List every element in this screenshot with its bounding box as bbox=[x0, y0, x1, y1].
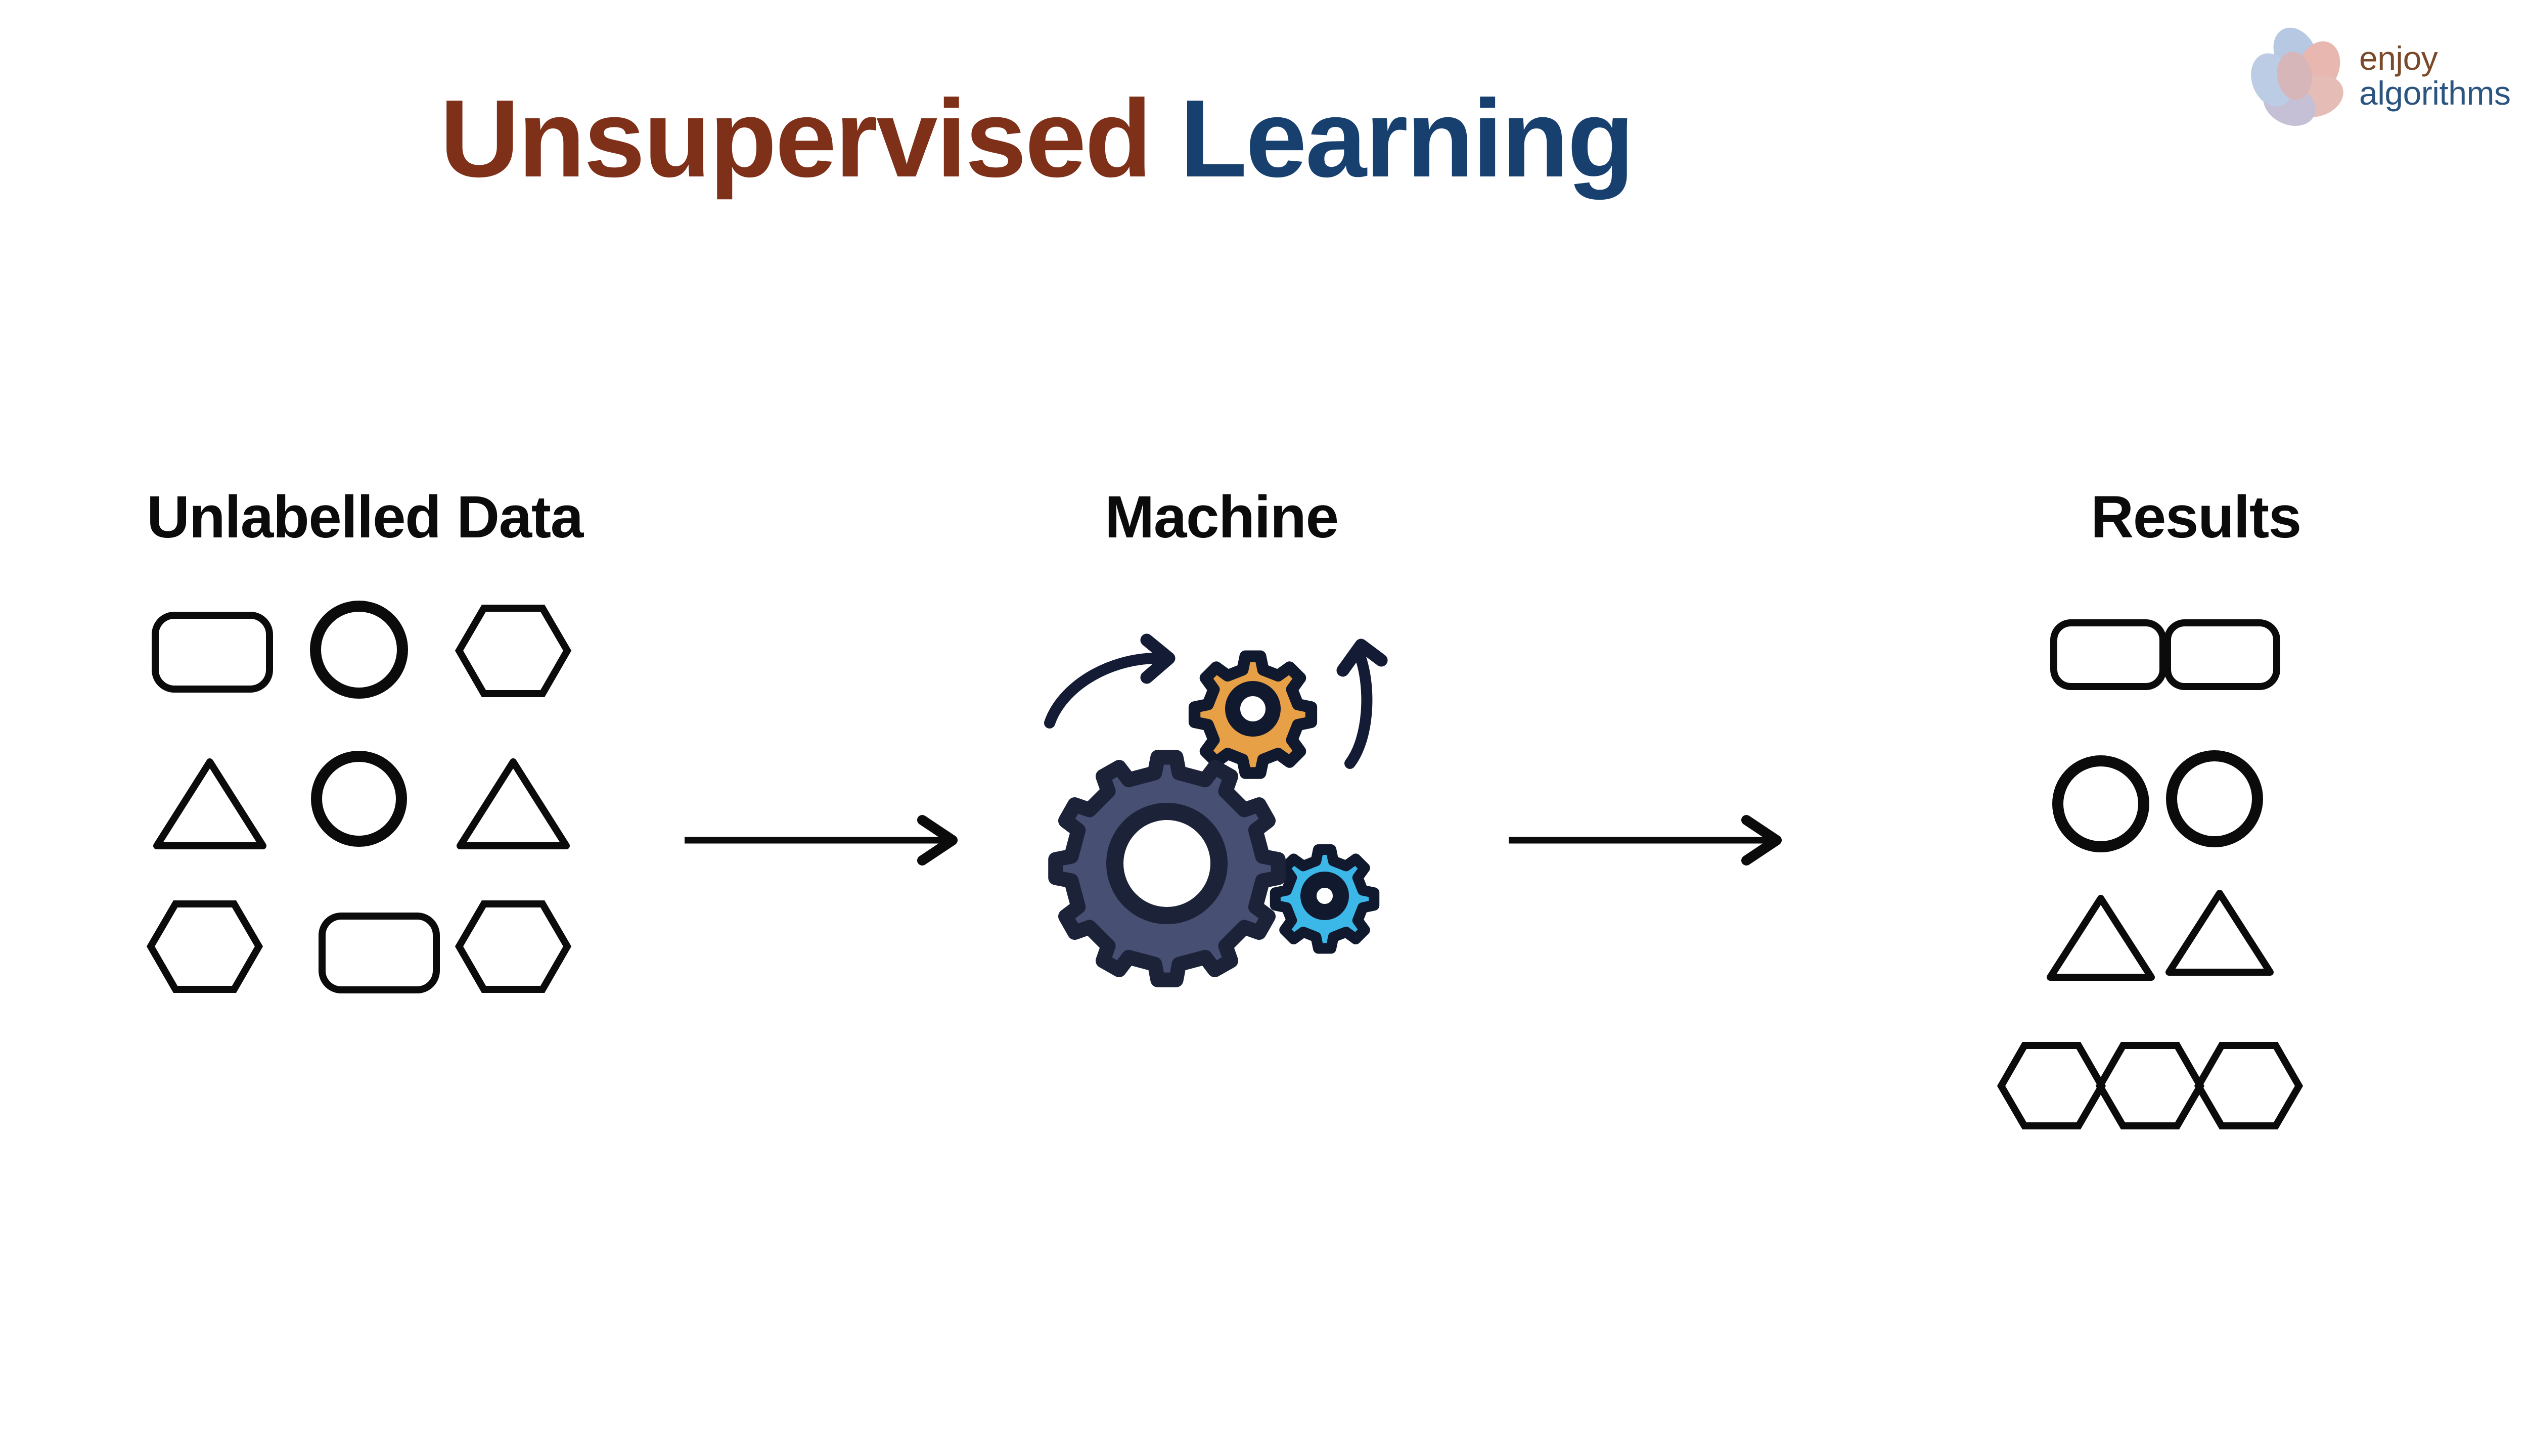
unlabelled-data-shape-grid bbox=[142, 607, 647, 1062]
page-title-space bbox=[1151, 77, 1180, 200]
shape-circle bbox=[308, 748, 410, 849]
shape-rounded-rect bbox=[2164, 619, 2280, 690]
orange-gear bbox=[1195, 656, 1312, 773]
stage-title-results: Results bbox=[2091, 483, 2301, 552]
shape-circle bbox=[308, 599, 410, 700]
page-title-part-learning: Learning bbox=[1180, 77, 1633, 200]
arrow-input-to-machine bbox=[683, 809, 966, 875]
shape-hexagon bbox=[1997, 1041, 2106, 1130]
shape-rounded-rect bbox=[2050, 619, 2166, 690]
flower-petals-logo-icon bbox=[2245, 25, 2346, 126]
shape-triangle bbox=[2045, 892, 2156, 983]
arrow-machine-to-results bbox=[1507, 809, 1800, 875]
shape-rounded-rect bbox=[152, 612, 273, 693]
shape-hexagon bbox=[455, 604, 571, 698]
page-title-part-unsupervised: Unsupervised bbox=[440, 77, 1151, 200]
diagram-canvas: enjoy algorithms Unsupervised Learning U… bbox=[0, 0, 2528, 1456]
shape-circle bbox=[2050, 753, 2151, 854]
shape-rounded-rect bbox=[319, 913, 440, 993]
cyan-gear bbox=[1275, 850, 1374, 948]
shape-hexagon bbox=[147, 900, 263, 993]
brand-wordmark: enjoy algorithms bbox=[2359, 41, 2510, 110]
stage-title-machine: Machine bbox=[1105, 483, 1338, 552]
large-gear bbox=[1056, 757, 1278, 980]
shape-triangle bbox=[455, 756, 571, 852]
shape-hexagon bbox=[2096, 1041, 2204, 1130]
shape-triangle bbox=[152, 756, 268, 852]
results-shape-clusters bbox=[2002, 607, 2457, 1223]
shape-circle bbox=[2164, 748, 2265, 849]
stage-title-unlabelled-data: Unlabelled Data bbox=[147, 483, 583, 552]
brand-logo[interactable]: enjoy algorithms bbox=[2245, 25, 2510, 126]
brand-line-enjoy: enjoy bbox=[2359, 41, 2510, 76]
shape-triangle bbox=[2164, 887, 2275, 978]
shape-hexagon bbox=[2194, 1041, 2303, 1130]
page-title: Unsupervised Learning bbox=[0, 76, 2073, 202]
shape-hexagon bbox=[455, 900, 571, 993]
rotation-arrow-right bbox=[1343, 645, 1381, 763]
brand-line-algorithms: algorithms bbox=[2359, 76, 2510, 111]
gears-icon bbox=[1042, 627, 1406, 996]
rotation-arrow-left bbox=[1050, 640, 1169, 723]
